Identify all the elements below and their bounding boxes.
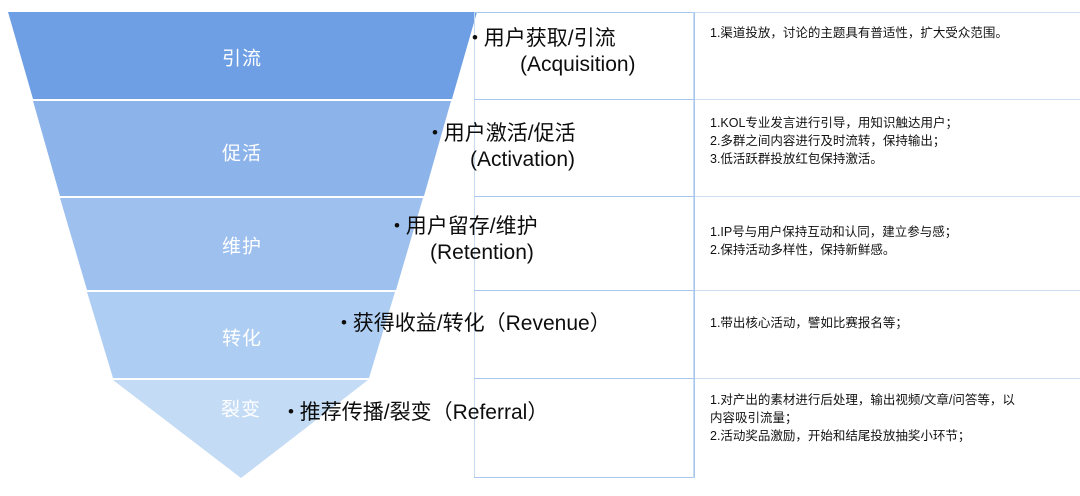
table-row: • 用户激活/促活 (Activation) 1.KOL专业发言进行引导，用知识… <box>474 100 1080 196</box>
note-item: 2.保持活动多样性，保持新鲜感。 <box>710 242 957 260</box>
table-row: • 推荐传播/裂变（Referral） 1.对产出的素材进行后处理，输出视频/文… <box>474 379 1080 478</box>
note-item: 1.IP号与用户保持互动和认同，建立参与感； <box>710 224 957 242</box>
metric-cell: • 用户留存/维护 (Retention) <box>474 197 694 290</box>
note-list-2: 1.KOL专业发言进行引导，用知识触达用户； 2.多群之间内容进行及时流转，保持… <box>710 115 958 168</box>
note-list-5: 1.对产出的素材进行后处理，输出视频/文章/问答等，以 内容吸引流量； 2.活动… <box>710 392 1015 445</box>
funnel-stage-label-1: 引流 <box>222 44 262 71</box>
bullet-icon: • <box>341 313 347 332</box>
metric-label-3: • 用户留存/维护 (Retention) <box>394 214 538 265</box>
metric-cell: • 用户获取/引流 (Acquisition) <box>474 12 694 99</box>
note-cell: 1.渠道投放，讨论的主题具有普适性，扩大受众范围。 <box>694 12 1080 99</box>
note-item: 1.对产出的素材进行后处理，输出视频/文章/问答等，以 内容吸引流量； <box>710 392 1015 428</box>
note-item: 1.KOL专业发言进行引导，用知识触达用户； <box>710 115 958 133</box>
metric-label-1: • 用户获取/引流 (Acquisition) <box>472 26 636 77</box>
funnel-diagram: 引流 促活 维护 转化 裂变 • 用户获取/引流 (Acquisition) <box>0 0 1080 496</box>
bullet-icon: • <box>432 123 438 142</box>
note-cell: 1.IP号与用户保持互动和认同，建立参与感； 2.保持活动多样性，保持新鲜感。 <box>694 197 1080 290</box>
bullet-icon: • <box>394 216 400 235</box>
note-item: 1.渠道投放，讨论的主题具有普适性，扩大受众范围。 <box>710 25 1008 43</box>
note-list-1: 1.渠道投放，讨论的主题具有普适性，扩大受众范围。 <box>710 25 1008 43</box>
note-cell: 1.对产出的素材进行后处理，输出视频/文章/问答等，以 内容吸引流量； 2.活动… <box>694 379 1080 478</box>
funnel-stage-label-4: 转化 <box>222 324 262 351</box>
funnel-stage-label-3: 维护 <box>222 232 262 259</box>
metric-cn-3: 用户留存/维护 <box>406 215 538 238</box>
metric-cell: • 用户激活/促活 (Activation) <box>474 100 694 196</box>
metric-single-4: 获得收益/转化（Revenue） <box>353 312 611 335</box>
metric-en-2: (Activation) <box>432 147 575 173</box>
metric-cn-2: 用户激活/促活 <box>444 122 576 145</box>
note-cell: 1.KOL专业发言进行引导，用知识触达用户； 2.多群之间内容进行及时流转，保持… <box>694 100 1080 196</box>
detail-table: • 用户获取/引流 (Acquisition) 1.渠道投放，讨论的主题具有普适… <box>474 12 1080 478</box>
note-item: 2.活动奖品激励，开始和结尾投放抽奖小环节； <box>710 428 1015 446</box>
note-list-3: 1.IP号与用户保持互动和认同，建立参与感； 2.保持活动多样性，保持新鲜感。 <box>710 224 957 260</box>
note-cell: 1.带出核心活动，譬如比赛报名等； <box>694 291 1080 378</box>
metric-single-5: 推荐传播/裂变（Referral） <box>300 401 549 424</box>
funnel-stage-label-5: 裂变 <box>221 395 261 422</box>
table-row: • 用户留存/维护 (Retention) 1.IP号与用户保持互动和认同，建立… <box>474 197 1080 290</box>
funnel-stage-label-2: 促活 <box>222 139 262 166</box>
bullet-icon: • <box>288 402 294 421</box>
metric-cell: • 推荐传播/裂变（Referral） <box>474 379 694 478</box>
metric-label-5: • 推荐传播/裂变（Referral） <box>288 400 548 426</box>
bullet-icon: • <box>472 28 478 47</box>
metric-cell: • 获得收益/转化（Revenue） <box>474 291 694 378</box>
table-row: • 获得收益/转化（Revenue） 1.带出核心活动，譬如比赛报名等； <box>474 291 1080 378</box>
note-item: 3.低活跃群投放红包保持激活。 <box>710 151 958 169</box>
note-list-4: 1.带出核心活动，譬如比赛报名等； <box>710 315 908 333</box>
note-item: 1.带出核心活动，譬如比赛报名等； <box>710 315 908 333</box>
metric-en-1: (Acquisition) <box>472 52 636 78</box>
metric-en-3: (Retention) <box>394 240 534 266</box>
metric-cn-1: 用户获取/引流 <box>484 27 616 50</box>
metric-label-4: • 获得收益/转化（Revenue） <box>341 311 611 337</box>
table-row: • 用户获取/引流 (Acquisition) 1.渠道投放，讨论的主题具有普适… <box>474 12 1080 99</box>
metric-label-2: • 用户激活/促活 (Activation) <box>432 121 576 172</box>
note-item: 2.多群之间内容进行及时流转，保持输出； <box>710 133 958 151</box>
